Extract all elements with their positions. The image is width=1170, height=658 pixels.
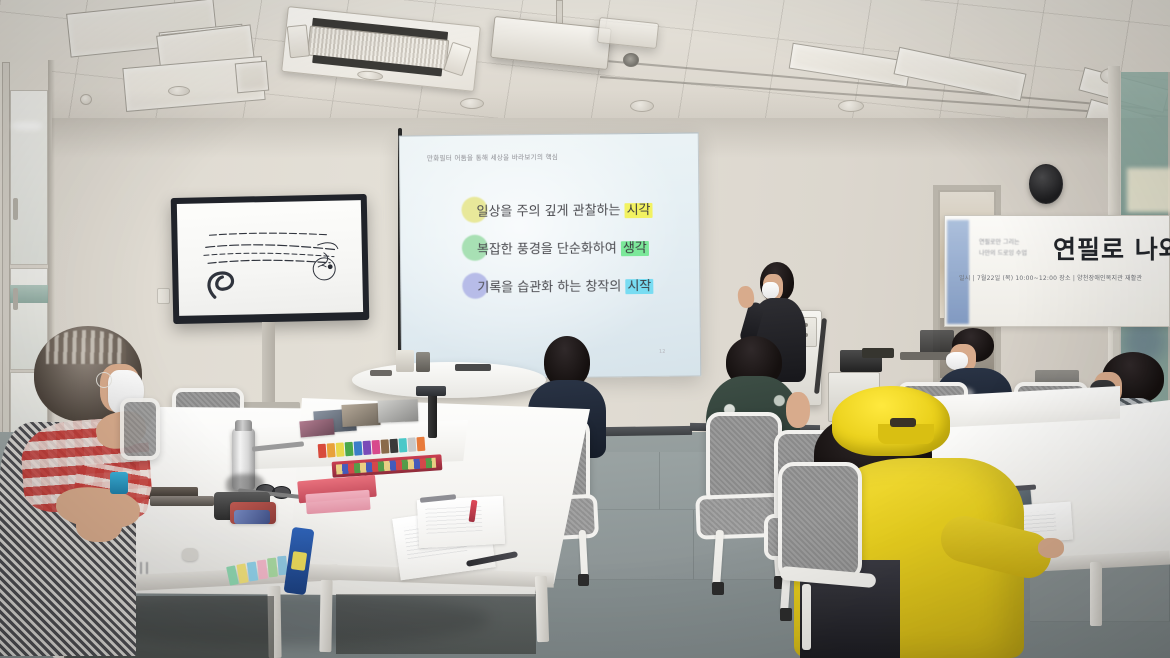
pencil-case-graphic [291,551,307,571]
remote-on-table [455,364,491,371]
table-underside-shadow [336,594,536,654]
banner-footer: 일시 | 7월22일 (목) 10:00~12:00 장소 | 양천장애인복지관… [959,273,1142,282]
cap-adjuster [890,418,916,427]
slide-bullet-3-highlight: 시작 [625,278,653,293]
chair-yellow-person[interactable] [778,462,902,658]
slide-bullet-3: 기록을 습관화 하는 창작의 시작 [462,271,653,299]
frosted-glass-door-upper[interactable] [10,90,48,265]
pouch-detail [234,510,270,524]
door-handle[interactable] [13,198,18,220]
slide-header-text: 만화필터 어둠을 통해 세상을 바라보기의 핵심 [427,151,558,162]
slide-page-number: 12 [659,349,665,355]
round-side-table [352,362,546,398]
clothespin[interactable] [267,558,278,578]
door-glare [12,122,42,130]
wall-clock [1029,164,1063,204]
eyeglasses-icon [96,372,112,388]
ceiling-light-panel [235,61,269,94]
event-banner: 연필로만 그리는 나만의 드로잉 수업 연필로 나와 일시 | 7월22일 (목… [944,215,1170,327]
banner-subtitle-line1: 연필로만 그리는 [979,238,1045,247]
banner-title: 연필로 나와 [1053,230,1170,266]
container-on-table [396,350,414,372]
item-on-table [370,370,392,376]
slide-bullet-1: 일상을 주의 깊게 관찰하는 시각 [461,195,652,223]
projector-lens-icon [623,53,639,67]
equipment-item [862,348,894,358]
slide-bullet-2: 복잡한 풍경을 단순화하여 생각 [462,233,649,261]
table-leg [535,576,549,642]
table-leg [1090,562,1102,626]
person-fg-hair-highlight [46,330,126,364]
photo-print[interactable] [378,399,419,422]
slide-bullet-2-text: 복잡한 풍경을 단순화하여 [477,241,621,258]
table-leg [319,580,332,652]
container-on-table [416,352,430,372]
banner-subtitle-line2: 나만의 드로잉 수업 [979,249,1051,258]
device-top [416,386,446,396]
slide-bullet-1-highlight: 시각 [625,202,653,217]
bottle-cap[interactable] [235,420,252,431]
whiteboard-screen[interactable] [177,200,363,316]
interactive-whiteboard[interactable] [171,194,370,324]
chair-foreground-left[interactable] [120,398,160,460]
whiteboard-drawing-icon [177,200,363,316]
monitor-arm [428,390,437,438]
photo-print[interactable] [341,403,380,427]
instructor-mask-icon [762,282,779,299]
photo-print[interactable] [299,419,334,438]
whiteboard-stand [262,322,275,406]
door-handle[interactable] [13,288,18,310]
person-yellow-hand [1038,538,1064,558]
wall-outlet[interactable] [157,288,170,304]
slide-bullet-2-highlight: 생각 [621,240,649,255]
person-fg-hand [76,508,122,542]
slide-bullet-3-text: 기록을 습관화 하는 창작의 [477,279,625,296]
person-fg-item [110,472,128,494]
banner-graphic [947,220,969,324]
worksheet[interactable] [417,496,505,548]
cap-back-strap [878,424,934,444]
slide-bullet-1-text: 일상을 주의 깊게 관찰하는 [476,203,624,220]
classroom-photo: 연필로만 그리는 나만의 드로잉 수업 연필로 나와 일시 | 7월22일 (목… [0,0,1170,658]
person-foreground-left [0,326,220,658]
